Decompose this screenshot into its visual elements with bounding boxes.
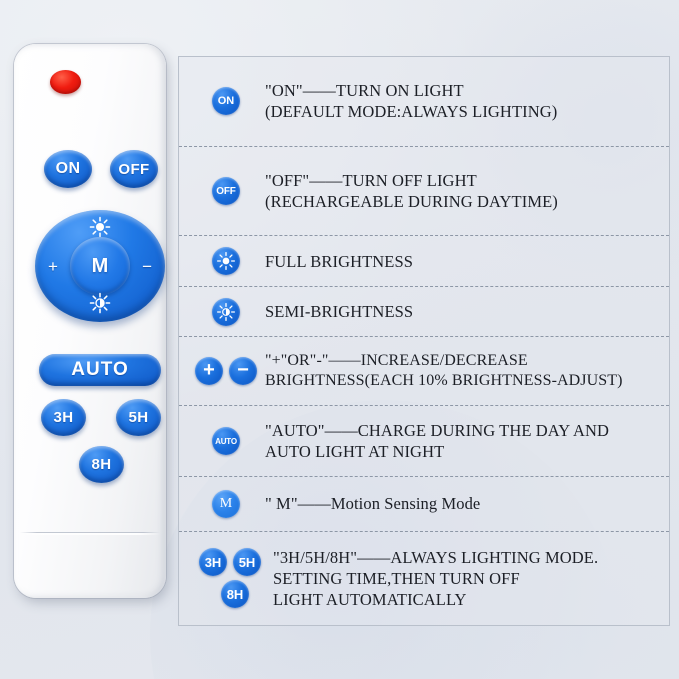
- legend-row-icons: +−: [187, 357, 265, 385]
- remote-button-off[interactable]: OFF: [110, 150, 158, 188]
- legend-chip-off-icon: OFF: [212, 177, 240, 205]
- legend-row-text: "3H/5H/8H"——ALWAYS LIGHTING MODE. SETTIN…: [273, 547, 665, 610]
- legend-row-text: "AUTO"——CHARGE DURING THE DAY AND AUTO L…: [265, 420, 665, 462]
- led-indicator-icon: [50, 70, 81, 94]
- legend-row-icons: AUTO: [187, 427, 265, 455]
- legend-row-icons: [187, 298, 265, 326]
- legend-row-on: ON"ON"——TURN ON LIGHT (DEFAULT MODE:ALWA…: [179, 57, 669, 147]
- legend-row-off: OFF"OFF"——TURN OFF LIGHT (RECHARGEABLE D…: [179, 147, 669, 237]
- sun-half-icon: [212, 298, 240, 326]
- remote-button-on[interactable]: ON: [44, 150, 92, 188]
- legend-panel: ON"ON"——TURN ON LIGHT (DEFAULT MODE:ALWA…: [178, 56, 670, 626]
- legend-row-text: "OFF"——TURN OFF LIGHT (RECHARGEABLE DURI…: [265, 170, 665, 212]
- legend-row-icons: M: [187, 490, 265, 518]
- legend-chip-8h-icon: 8H: [221, 580, 249, 608]
- legend-row-semi-brightness: SEMI-BRIGHTNESS: [179, 287, 669, 337]
- sun-full-icon: [212, 247, 240, 275]
- remote-button-auto[interactable]: AUTO: [39, 354, 161, 386]
- legend-row-icons: 3H5H8H: [187, 548, 273, 608]
- sun-full-icon[interactable]: [89, 216, 111, 238]
- legend-row-motion: M" M"——Motion Sensing Mode: [179, 477, 669, 531]
- remote-button-plus[interactable]: +: [48, 258, 58, 275]
- legend-chip-on-icon: ON: [212, 87, 240, 115]
- legend-chip-group-bottom: 8H: [187, 580, 273, 608]
- legend-row-auto: AUTO"AUTO"——CHARGE DURING THE DAY AND AU…: [179, 406, 669, 477]
- legend-row-text: FULL BRIGHTNESS: [265, 251, 665, 272]
- legend-chip-3h-icon: 3H: [199, 548, 227, 576]
- remote-button-3h[interactable]: 3H: [41, 399, 86, 436]
- legend-row-timer: 3H5H8H"3H/5H/8H"——ALWAYS LIGHTING MODE. …: [179, 532, 669, 625]
- battery-cover-seam: [20, 532, 160, 533]
- legend-chip--icon: +: [195, 357, 223, 385]
- remote-button-minus[interactable]: −: [142, 258, 152, 275]
- legend-row-icons: [187, 247, 265, 275]
- legend-chip-group-top: 3H5H: [199, 548, 261, 576]
- legend-row-brightness-adjust: +−"+"OR"-"——INCREASE/DECREASE BRIGHTNESS…: [179, 337, 669, 406]
- remote-dial[interactable]: + − M: [35, 210, 165, 322]
- legend-chip-5h-icon: 5H: [233, 548, 261, 576]
- remote-button-8h[interactable]: 8H: [79, 446, 124, 483]
- legend-row-text: SEMI-BRIGHTNESS: [265, 301, 665, 322]
- remote-control-body: ON OFF + − M: [14, 44, 166, 598]
- legend-row-full-brightness: FULL BRIGHTNESS: [179, 236, 669, 286]
- remote-button-mode[interactable]: M: [70, 237, 130, 295]
- legend-row-icons: ON: [187, 87, 265, 115]
- legend-row-icons: OFF: [187, 177, 265, 205]
- legend-chip--icon: −: [229, 357, 257, 385]
- legend-row-text: "ON"——TURN ON LIGHT (DEFAULT MODE:ALWAYS…: [265, 80, 665, 122]
- legend-chip-auto-icon: AUTO: [212, 427, 240, 455]
- legend-chip-m-icon: M: [212, 490, 240, 518]
- remote-button-5h[interactable]: 5H: [116, 399, 161, 436]
- legend-row-text: "+"OR"-"——INCREASE/DECREASE BRIGHTNESS(E…: [265, 351, 665, 392]
- legend-row-text: " M"——Motion Sensing Mode: [265, 493, 665, 514]
- sun-half-icon[interactable]: [89, 292, 111, 314]
